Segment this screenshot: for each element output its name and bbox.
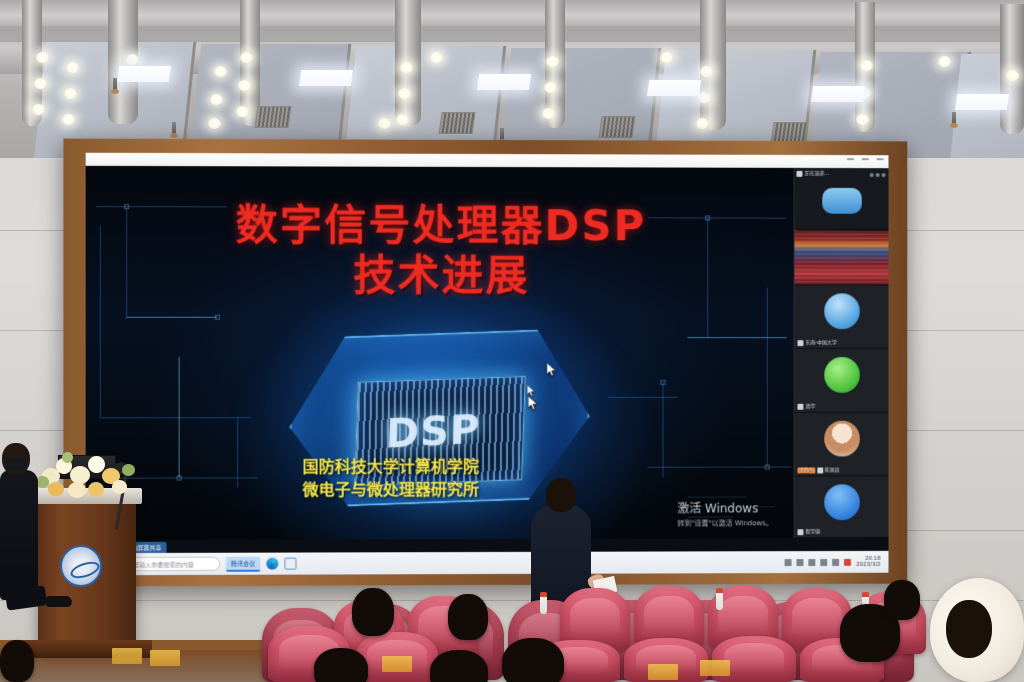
participant-tile-video[interactable]: 国防科技大学会议室: [795, 230, 889, 286]
ceiling-downlight: [546, 56, 559, 67]
sprinkler-head: [172, 122, 176, 135]
participant-name: 正在演讲…: [804, 170, 829, 177]
avatar: [824, 421, 860, 457]
audience-head: [448, 594, 488, 640]
ceiling-panel-light: [955, 94, 1009, 110]
mic-icon: [797, 529, 803, 535]
ceiling-downlight: [696, 118, 709, 129]
ceiling-downlight: [210, 94, 223, 105]
participant-name: 程学旗: [805, 528, 820, 535]
ceiling-downlight: [660, 52, 673, 63]
person-walking: [0, 470, 38, 600]
shoe: [46, 596, 72, 607]
video-feed: [795, 230, 889, 285]
university-emblem: [60, 545, 102, 587]
lecture-hall-scene: DSP 数字信号处理器DSP 技术进展 国防科技大学计算机学院 微电子与微处理器…: [0, 0, 1024, 682]
ceiling-downlight: [430, 52, 443, 63]
participant-name: 陈国良: [825, 466, 840, 473]
ceiling-downlight: [698, 92, 711, 103]
ceiling-downlight: [396, 114, 409, 125]
explorer-icon[interactable]: [284, 558, 296, 570]
ceiling-downlight: [1006, 70, 1019, 81]
ceiling-downlight: [378, 118, 391, 129]
avatar: [824, 357, 860, 393]
ceiling-downlight: [700, 66, 713, 77]
ceiling-downlight: [856, 114, 869, 125]
network-icon[interactable]: [809, 559, 816, 566]
participant-label: 东南-中国大学: [797, 339, 836, 346]
window-controls[interactable]: [847, 158, 884, 160]
ceiling-downlight: [238, 80, 251, 91]
ceiling-downlight: [544, 82, 557, 93]
slide-title-line2: 技术进展: [86, 250, 794, 301]
participant-tile[interactable]: 主持人 陈国良: [795, 413, 889, 477]
slide-subtitle-line1: 国防科技大学计算机学院: [303, 455, 623, 479]
chevron-up-icon[interactable]: [785, 559, 792, 566]
participant-tile[interactable]: 东南-中国大学: [795, 285, 889, 349]
participant-name: 东南-中国大学: [805, 339, 836, 346]
ceiling-panel-light: [299, 70, 353, 86]
ime-icon[interactable]: [844, 558, 851, 565]
seat-name-card: [382, 656, 412, 672]
sprinkler-head: [952, 112, 956, 125]
tile-header: 正在演讲…: [797, 170, 830, 177]
audience-head: [430, 650, 488, 682]
avatar: [824, 293, 860, 329]
taskbar-clock[interactable]: 20:18 2023/3/2: [856, 556, 880, 569]
ceiling-panel-light: [647, 80, 701, 96]
ceiling-downlight: [66, 62, 79, 73]
participant-label: 主持人 陈国良: [797, 466, 839, 473]
ceiling-downlight: [214, 66, 227, 77]
participant-tile[interactable]: 清华: [795, 349, 889, 413]
ceiling-downlight: [860, 60, 873, 71]
ceiling: [0, 0, 1024, 158]
audience-head-hooded: [946, 600, 992, 658]
keyboard-icon[interactable]: [832, 558, 839, 565]
edge-icon[interactable]: [266, 558, 278, 570]
audience-head: [884, 580, 920, 620]
ceiling-downlight: [398, 88, 411, 99]
seat-name-card: [150, 650, 180, 666]
ceiling-downlight: [542, 108, 555, 119]
audience-head: [314, 648, 368, 682]
ceiling-panel-light: [477, 74, 531, 90]
mic-icon: [797, 403, 803, 409]
ceiling-downlight: [240, 52, 253, 63]
ceiling-downlight: [32, 104, 45, 115]
participant-tile[interactable]: 正在演讲…: [795, 168, 889, 230]
ceiling-vent: [598, 116, 635, 138]
taskbar-app-label: 腾讯会议: [231, 558, 255, 567]
projection-screen[interactable]: DSP 数字信号处理器DSP 技术进展 国防科技大学计算机学院 微电子与微处理器…: [86, 153, 889, 576]
shared-slide: DSP 数字信号处理器DSP 技术进展 国防科技大学计算机学院 微电子与微处理器…: [86, 166, 794, 540]
chip-logo-text: DSP: [385, 406, 481, 457]
system-tray[interactable]: 20:18 2023/3/2: [785, 556, 885, 569]
watermark-subtitle: 转到"设置"以激活 Windows。: [677, 518, 772, 528]
face-mask: [4, 458, 27, 471]
ceiling-panel-light: [117, 66, 171, 82]
water-bottle: [716, 588, 723, 610]
seat-name-card: [112, 648, 142, 664]
water-bottle: [540, 592, 547, 614]
taskbar-app-meeting[interactable]: 腾讯会议: [226, 556, 260, 571]
avatar: [822, 188, 862, 214]
audience-head: [0, 640, 34, 682]
ceiling-downlight: [36, 52, 49, 63]
mic-icon: [797, 340, 803, 346]
tile-header: 国防科技大学会议室: [797, 230, 889, 231]
ceiling-vent: [438, 112, 475, 134]
host-badge: 主持人: [797, 467, 814, 473]
participant-rail[interactable]: 正在演讲… 国防科技大学会议室 东南-中国大学: [794, 168, 889, 538]
participant-tile[interactable]: 程学旗: [795, 476, 889, 538]
avatar: [824, 484, 860, 520]
ceiling-downlight: [236, 106, 249, 117]
ceiling-downlight: [64, 88, 77, 99]
ceiling-vent: [254, 106, 291, 128]
sprinkler-head: [113, 78, 117, 91]
audience-head: [502, 638, 564, 682]
ceiling-downlight: [938, 56, 951, 67]
clock-date: 2023/3/2: [856, 562, 880, 568]
battery-icon[interactable]: [797, 559, 804, 566]
seat-name-card: [700, 660, 730, 676]
tile-controls[interactable]: [870, 173, 886, 177]
projection-screen-frame: DSP 数字信号处理器DSP 技术进展 国防科技大学计算机学院 微电子与微处理器…: [63, 139, 907, 587]
flower-arrangement: [36, 452, 140, 500]
slide-title-line1: 数字信号处理器DSP: [236, 200, 646, 250]
ceiling-downlight: [126, 54, 139, 65]
audience-head: [352, 588, 394, 636]
windows-taskbar[interactable]: 我的屏幕共享 在这里输入你要搜索的内容 腾讯会议: [86, 551, 889, 575]
presenter-head: [546, 478, 576, 512]
ceiling-downlight: [400, 62, 413, 73]
participant-label: 清华: [797, 403, 815, 410]
volume-icon[interactable]: [821, 558, 828, 565]
mic-icon: [797, 170, 803, 176]
ceiling-downlight: [62, 114, 75, 125]
participant-name: 清华: [805, 403, 815, 410]
ceiling-downlight: [208, 118, 221, 129]
seat-name-card: [648, 664, 678, 680]
slide-title: 数字信号处理器DSP 技术进展: [86, 200, 794, 300]
watermark-title: 激活 Windows: [677, 499, 772, 516]
windows-activation-watermark: 激活 Windows 转到"设置"以激活 Windows。: [677, 499, 772, 528]
ceiling-panel-light: [811, 86, 865, 102]
mic-icon: [817, 467, 823, 473]
ceiling-downlight: [34, 78, 47, 89]
participant-label: 程学旗: [797, 528, 820, 535]
